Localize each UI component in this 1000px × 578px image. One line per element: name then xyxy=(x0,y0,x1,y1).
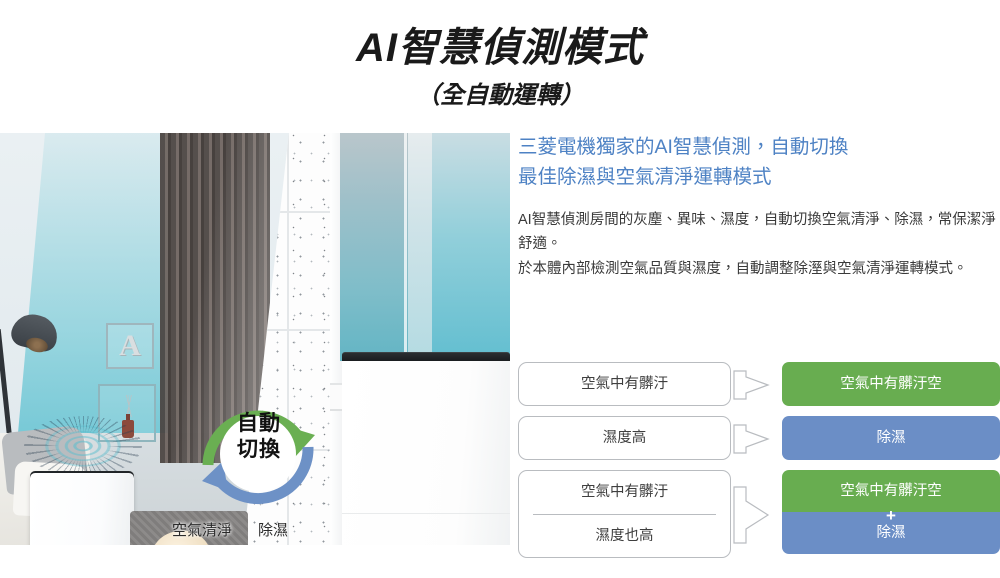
page-title: AI智慧偵測模式 xyxy=(0,0,1000,68)
auto-switch-label-line2: 切換 xyxy=(196,437,322,463)
caption-dehumidify: 除濕 xyxy=(258,519,288,540)
airflow-swirl-dots xyxy=(24,416,142,476)
title-block: AI智慧偵測模式 （全自動運轉） xyxy=(0,0,1000,132)
result-wrapper: 除濕 xyxy=(782,416,1000,460)
condition-row: 空氣中有髒汙 空氣中有髒汙空 xyxy=(518,362,1000,406)
condition-row: 空氣中有髒汙 濕度也高 空氣中有髒汙空 + 除濕 xyxy=(518,470,1000,558)
scene-dehumidify xyxy=(330,133,510,545)
body-copy: AI智慧偵測房間的灰塵、異味、濕度，自動切換空氣清淨、除濕，常保潔淨舒適。 於本… xyxy=(518,208,1000,283)
description-column: 三菱電機獨家的AI智慧偵測，自動切換 最佳除濕與空氣清淨運轉模式 AI智慧偵測房… xyxy=(518,133,1000,578)
result-box-blue: 除濕 xyxy=(782,416,1000,460)
body-paragraph-2: 於本體內部檢測空氣品質與濕度，自動調整除溼與空氣清淨運轉模式。 xyxy=(518,257,1000,282)
caption-air-purify: 空氣清淨 xyxy=(172,519,232,540)
dehumidify-airflow-panel-b xyxy=(408,133,432,361)
arrow-tail-icon xyxy=(732,417,786,459)
dehumidifier-right-seam xyxy=(342,513,510,514)
lead-heading-line1: 三菱電機獨家的AI智慧偵測，自動切換 xyxy=(518,133,1000,163)
condition-box: 空氣中有髒汙 濕度也高 xyxy=(518,470,731,558)
result-wrapper-stacked: 空氣中有髒汙空 + 除濕 xyxy=(782,470,1000,554)
dehumidify-airflow-panel-a xyxy=(340,133,408,361)
arrow-tail-icon xyxy=(732,363,786,405)
arrow-tail-icon xyxy=(732,471,786,557)
result-box-green: 空氣中有髒汙空 xyxy=(782,362,1000,406)
condition-label: 空氣中有髒汙 xyxy=(519,363,730,405)
result-wrapper: 空氣中有髒汙空 xyxy=(782,362,1000,406)
wall-frame-letter-glyph: A xyxy=(119,329,141,363)
dehumidifier-left-body xyxy=(30,473,134,545)
condition-result-table: 空氣中有髒汙 空氣中有髒汙空 濕度高 xyxy=(518,362,1000,568)
condition-box: 空氣中有髒汙 xyxy=(518,362,731,406)
body-paragraph-1: AI智慧偵測房間的灰塵、異味、濕度，自動切換空氣清淨、除濕，常保潔淨舒適。 xyxy=(518,208,1000,258)
product-photo-collage: A xyxy=(0,133,510,545)
page-subtitle: （全自動運轉） xyxy=(0,68,1000,108)
condition-label: 空氣中有髒汙 xyxy=(519,471,730,514)
dehumidify-airflow-panel-c xyxy=(432,133,510,361)
condition-label: 濕度也高 xyxy=(519,515,730,558)
plus-icon: + xyxy=(886,507,896,524)
auto-switch-label: 自動 切換 xyxy=(196,411,322,462)
lead-heading: 三菱電機獨家的AI智慧偵測，自動切換 最佳除濕與空氣清淨運轉模式 xyxy=(518,133,1000,194)
wall-frame-letter: A xyxy=(106,323,154,369)
auto-switch-label-line1: 自動 xyxy=(196,411,322,437)
condition-label: 濕度高 xyxy=(519,417,730,459)
dehumidifier-right-body xyxy=(342,361,510,545)
condition-box: 濕度高 xyxy=(518,416,731,460)
condition-row: 濕度高 除濕 xyxy=(518,416,1000,460)
auto-switch-cycle-diagram: 自動 切換 xyxy=(196,395,322,513)
lead-heading-line2: 最佳除濕與空氣清淨運轉模式 xyxy=(518,163,1000,193)
dehumidify-panel-edge xyxy=(404,133,407,361)
